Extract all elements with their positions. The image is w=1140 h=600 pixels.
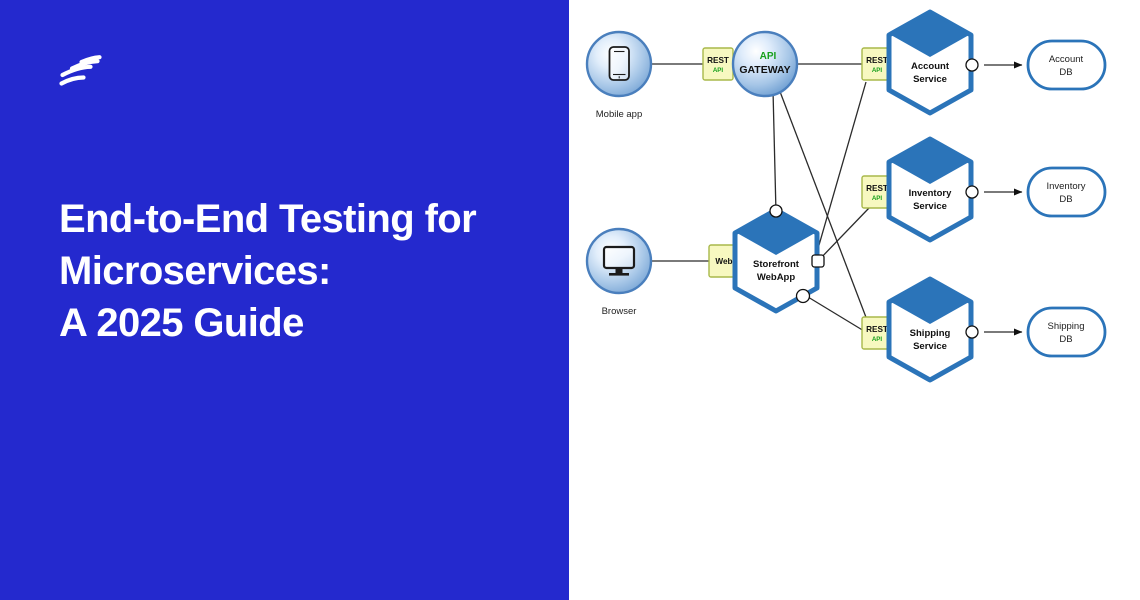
inventory-service-line2: Service <box>913 201 947 212</box>
mobile-app-caption: Mobile app <box>596 109 642 120</box>
node-shipping-db[interactable]: Shipping DB <box>1028 308 1105 356</box>
node-browser[interactable]: Browser <box>587 229 651 317</box>
node-shipping-service[interactable]: Shipping Service <box>889 279 978 380</box>
badge-shipping-rest-main: REST <box>866 325 888 334</box>
title-line-2: Microservices: <box>59 245 529 297</box>
badge-account-rest-main: REST <box>866 56 888 65</box>
node-inventory-service[interactable]: Inventory Service <box>889 139 978 240</box>
api-gateway-line2: GATEWAY <box>739 64 790 76</box>
browser-caption: Browser <box>602 306 637 317</box>
account-service-line2: Service <box>913 74 947 85</box>
hero-panel: End-to-End Testing for Microservices: A … <box>0 0 569 600</box>
inventory-service-line1: Inventory <box>909 188 952 199</box>
smartphone-icon <box>610 47 630 80</box>
title-line-3: A 2025 Guide <box>59 297 529 349</box>
badge-web-main: Web <box>715 257 732 266</box>
api-gateway-line1: API <box>760 51 777 62</box>
shipping-db-line1: Shipping <box>1048 321 1085 332</box>
account-db-line1: Account <box>1049 54 1084 65</box>
shipping-db-shape[interactable] <box>1028 308 1105 356</box>
account-db-shape[interactable] <box>1028 41 1105 89</box>
node-account-service[interactable]: Account Service <box>889 12 978 113</box>
title-line-1: End-to-End Testing for <box>59 193 529 245</box>
shipping-service-line2: Service <box>913 341 947 352</box>
shipping-service-db-connector[interactable] <box>966 326 978 338</box>
badge-mobile-rest-api[interactable]: REST API <box>703 48 733 80</box>
badge-account-rest-sub: API <box>872 67 883 74</box>
inventory-service-db-connector[interactable] <box>966 186 978 198</box>
edge-account-rest-to-storefront <box>815 82 866 259</box>
account-service-db-connector[interactable] <box>966 59 978 71</box>
shipping-service-line1: Shipping <box>910 328 951 339</box>
storefront-webapp-line2: WebApp <box>757 272 796 283</box>
microservices-architecture-diagram: Mobile app REST API API GATEWAY REST API <box>569 0 1140 600</box>
account-service-line1: Account <box>911 61 950 72</box>
shipping-db-line2: DB <box>1059 334 1072 345</box>
account-db-line2: DB <box>1059 67 1072 78</box>
badge-shipping-rest-sub: API <box>872 336 883 343</box>
signal-waves-logo-icon <box>57 52 103 96</box>
storefront-right-connector[interactable] <box>812 255 824 267</box>
node-inventory-db[interactable]: Inventory DB <box>1028 168 1105 216</box>
page-root: End-to-End Testing for Microservices: A … <box>0 0 1140 600</box>
edge-gateway-to-storefront-top <box>773 90 776 213</box>
badge-inventory-rest-sub: API <box>872 195 883 202</box>
inventory-db-line2: DB <box>1059 194 1072 205</box>
diagram-panel: Mobile app REST API API GATEWAY REST API <box>569 0 1140 600</box>
storefront-webapp-line1: Storefront <box>753 259 800 270</box>
node-storefront-webapp[interactable]: Storefront WebApp <box>735 205 824 311</box>
edge-inventory-rest-to-storefront <box>817 208 869 262</box>
badge-mobile-rest-main: REST <box>707 56 729 65</box>
badge-inventory-rest-main: REST <box>866 184 888 193</box>
inventory-db-shape[interactable] <box>1028 168 1105 216</box>
node-mobile-app[interactable]: Mobile app <box>587 32 651 120</box>
storefront-bottom-connector[interactable] <box>797 290 810 303</box>
badge-mobile-rest-sub: API <box>713 67 724 74</box>
node-api-gateway[interactable]: API GATEWAY <box>733 32 797 96</box>
node-account-db[interactable]: Account DB <box>1028 41 1105 89</box>
storefront-top-connector[interactable] <box>770 205 782 217</box>
page-title: End-to-End Testing for Microservices: A … <box>59 193 529 349</box>
inventory-db-line1: Inventory <box>1046 181 1085 192</box>
